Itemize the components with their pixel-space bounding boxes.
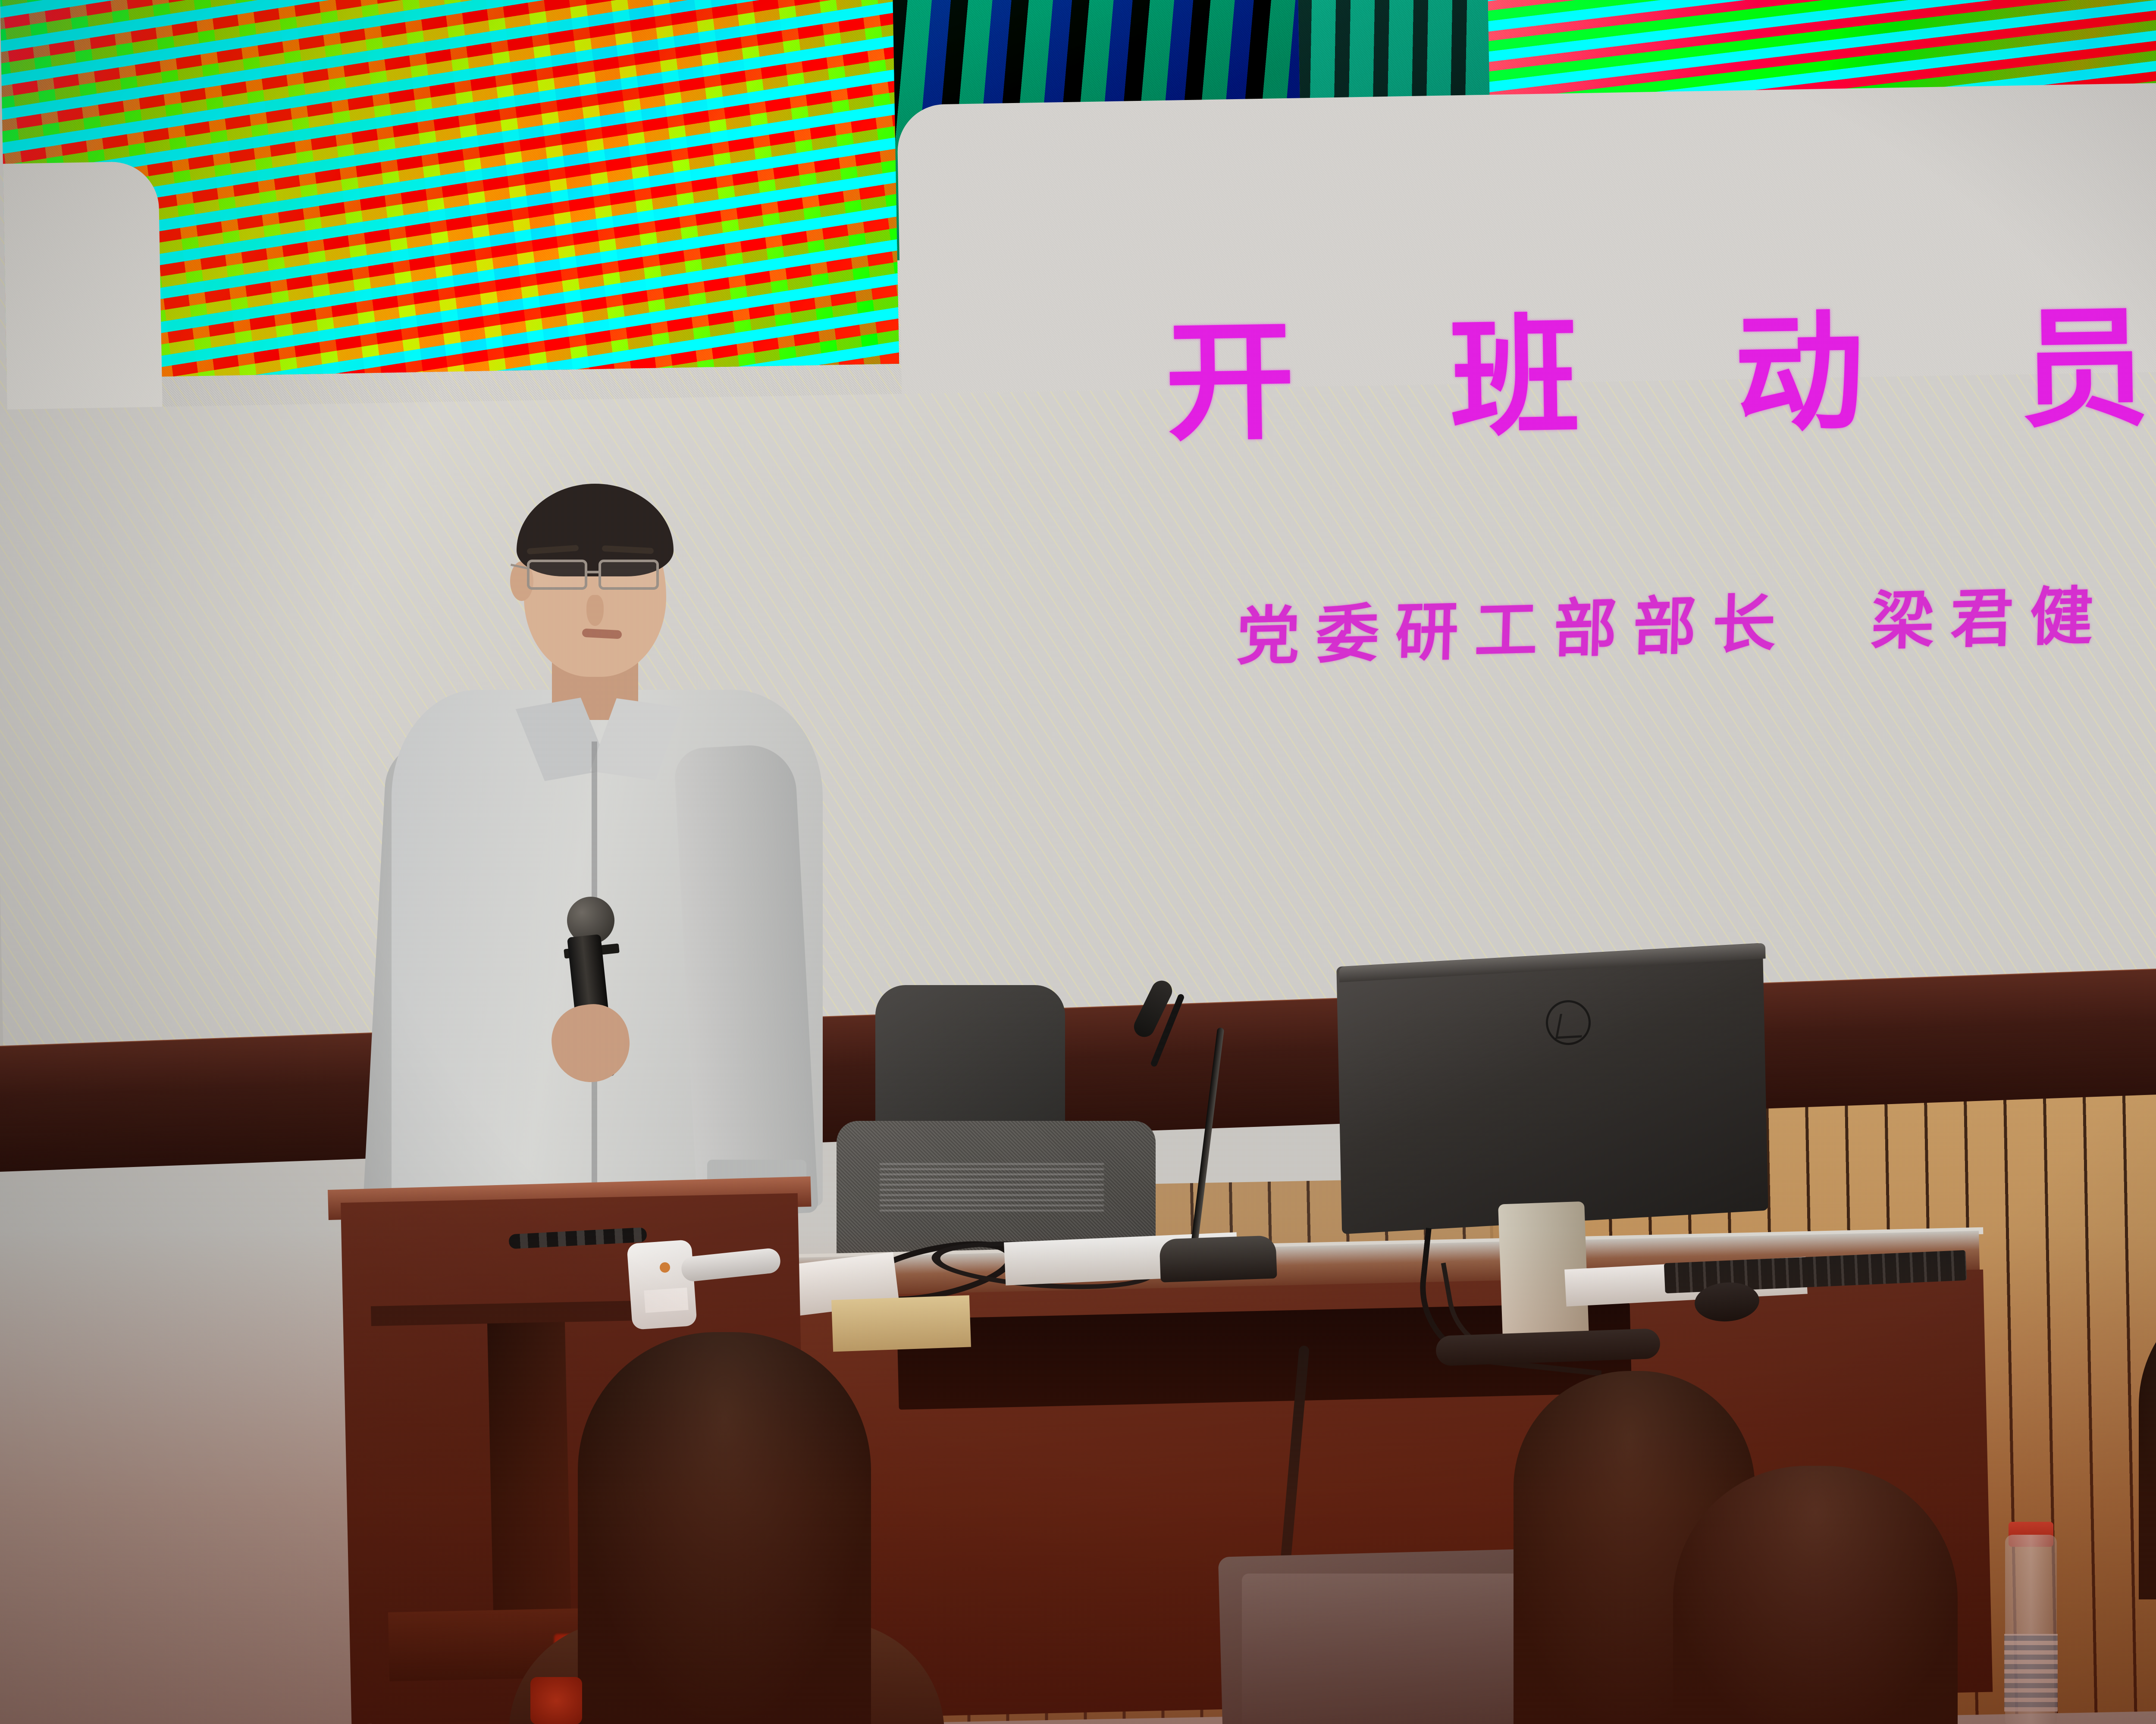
glasses-bridge [587,571,599,573]
wireless-mic-dock-led [660,1262,670,1273]
glasses-icon [517,560,674,591]
audience-head-right [1673,1466,1958,1724]
speaker-nose [586,595,604,626]
wireless-mic-dock [627,1239,697,1330]
chair-mesh-highlight [880,1160,1104,1211]
slide-title: 开 班 动 员 [1164,303,2156,448]
glasses-lens-right [599,560,659,590]
desk-card-holder [831,1295,971,1352]
dell-monitor-back [1336,943,1768,1234]
foreground-red-object [530,1677,582,1724]
audience-head-left [578,1332,871,1724]
water-bottle-label [2004,1634,2058,1711]
glasses-lens-left [527,560,587,590]
gooseneck-mic-base [1159,1235,1277,1282]
photo-scene: 开 班 动 员 党委研工部部长 梁君健 [0,0,2156,1724]
podium-leg [487,1322,571,1625]
speaker-right-arm [674,743,819,1218]
wireless-mic-dock-slot [644,1288,688,1313]
